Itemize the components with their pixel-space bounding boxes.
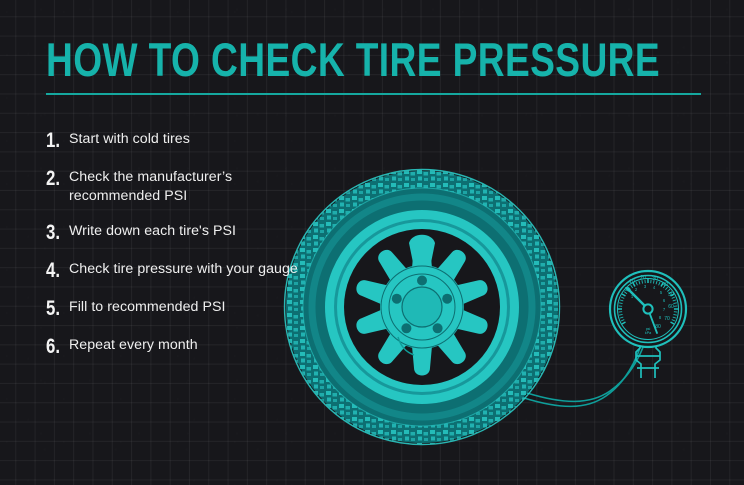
svg-text:1: 1 xyxy=(631,294,634,299)
step-number: 5. xyxy=(46,298,64,319)
wheel-spokes xyxy=(353,235,491,376)
step-number: 3. xyxy=(46,222,64,243)
svg-text:80: 80 xyxy=(655,324,661,330)
tire-pressure-gauge: 0 10 20 30 40 50 60 70 80 1 2 3 4 5 6 7 … xyxy=(610,271,686,378)
list-item: 6. Repeat every month xyxy=(46,336,301,357)
gauge-units-label: psi xyxy=(646,327,651,331)
tire-valve-stem xyxy=(398,337,414,355)
step-text: Start with cold tires xyxy=(69,130,301,149)
step-text: Check tire pressure with your gauge xyxy=(69,260,301,279)
gauge-inner-scale-numbers: 1 2 3 4 5 6 7 8 xyxy=(631,284,666,320)
svg-text:70: 70 xyxy=(664,316,670,322)
list-item: 3. Write down each tire's PSI xyxy=(46,222,301,243)
step-text: Write down each tire's PSI xyxy=(69,222,301,241)
svg-text:50: 50 xyxy=(668,292,674,298)
svg-text:20: 20 xyxy=(640,275,646,281)
svg-text:30: 30 xyxy=(652,276,658,282)
step-text: Repeat every month xyxy=(69,336,301,355)
list-item: 1. Start with cold tires xyxy=(46,130,301,151)
gauge-units-label-alt: kPa xyxy=(645,331,651,335)
svg-text:4: 4 xyxy=(653,285,656,290)
step-text: Fill to recommended PSI xyxy=(69,298,301,317)
gauge-needle xyxy=(627,288,657,333)
gauge-air-hose xyxy=(401,341,645,406)
svg-text:5: 5 xyxy=(660,290,663,295)
title-underline-rule xyxy=(46,93,701,95)
svg-text:3: 3 xyxy=(644,284,647,289)
gauge-scale-numbers: 0 10 20 30 40 50 60 70 80 xyxy=(625,275,674,330)
svg-text:8: 8 xyxy=(659,315,662,320)
step-number: 2. xyxy=(46,168,64,189)
svg-text:2: 2 xyxy=(635,287,638,292)
title-block: HOW TO CHECK TIRE PRESSURE xyxy=(46,36,702,95)
gauge-minor-ticks xyxy=(619,280,678,321)
step-number: 1. xyxy=(46,130,64,151)
steps-list: 1. Start with cold tires 2. Check the ma… xyxy=(46,130,301,374)
svg-text:6: 6 xyxy=(663,298,666,303)
page-title: HOW TO CHECK TIRE PRESSURE xyxy=(46,36,564,83)
wheel-hub xyxy=(381,266,463,348)
step-number: 4. xyxy=(46,260,64,281)
gauge-connector xyxy=(636,341,660,378)
svg-text:60: 60 xyxy=(668,304,674,310)
list-item: 4. Check tire pressure with your gauge xyxy=(46,260,301,281)
step-text: Check the manufacturer’s recommended PSI xyxy=(69,168,301,205)
svg-text:40: 40 xyxy=(662,282,668,288)
lug-nuts xyxy=(392,276,452,334)
car-tire xyxy=(280,165,566,451)
svg-text:7: 7 xyxy=(663,307,666,312)
svg-text:10: 10 xyxy=(629,279,635,285)
list-item: 2. Check the manufacturer’s recommended … xyxy=(46,168,301,205)
svg-text:0: 0 xyxy=(625,287,628,293)
gauge-dial-ticks xyxy=(616,277,680,325)
infographic-canvas: 0 10 20 30 40 50 60 70 80 1 2 3 4 5 6 7 … xyxy=(0,0,744,485)
list-item: 5. Fill to recommended PSI xyxy=(46,298,301,319)
step-number: 6. xyxy=(46,336,64,357)
